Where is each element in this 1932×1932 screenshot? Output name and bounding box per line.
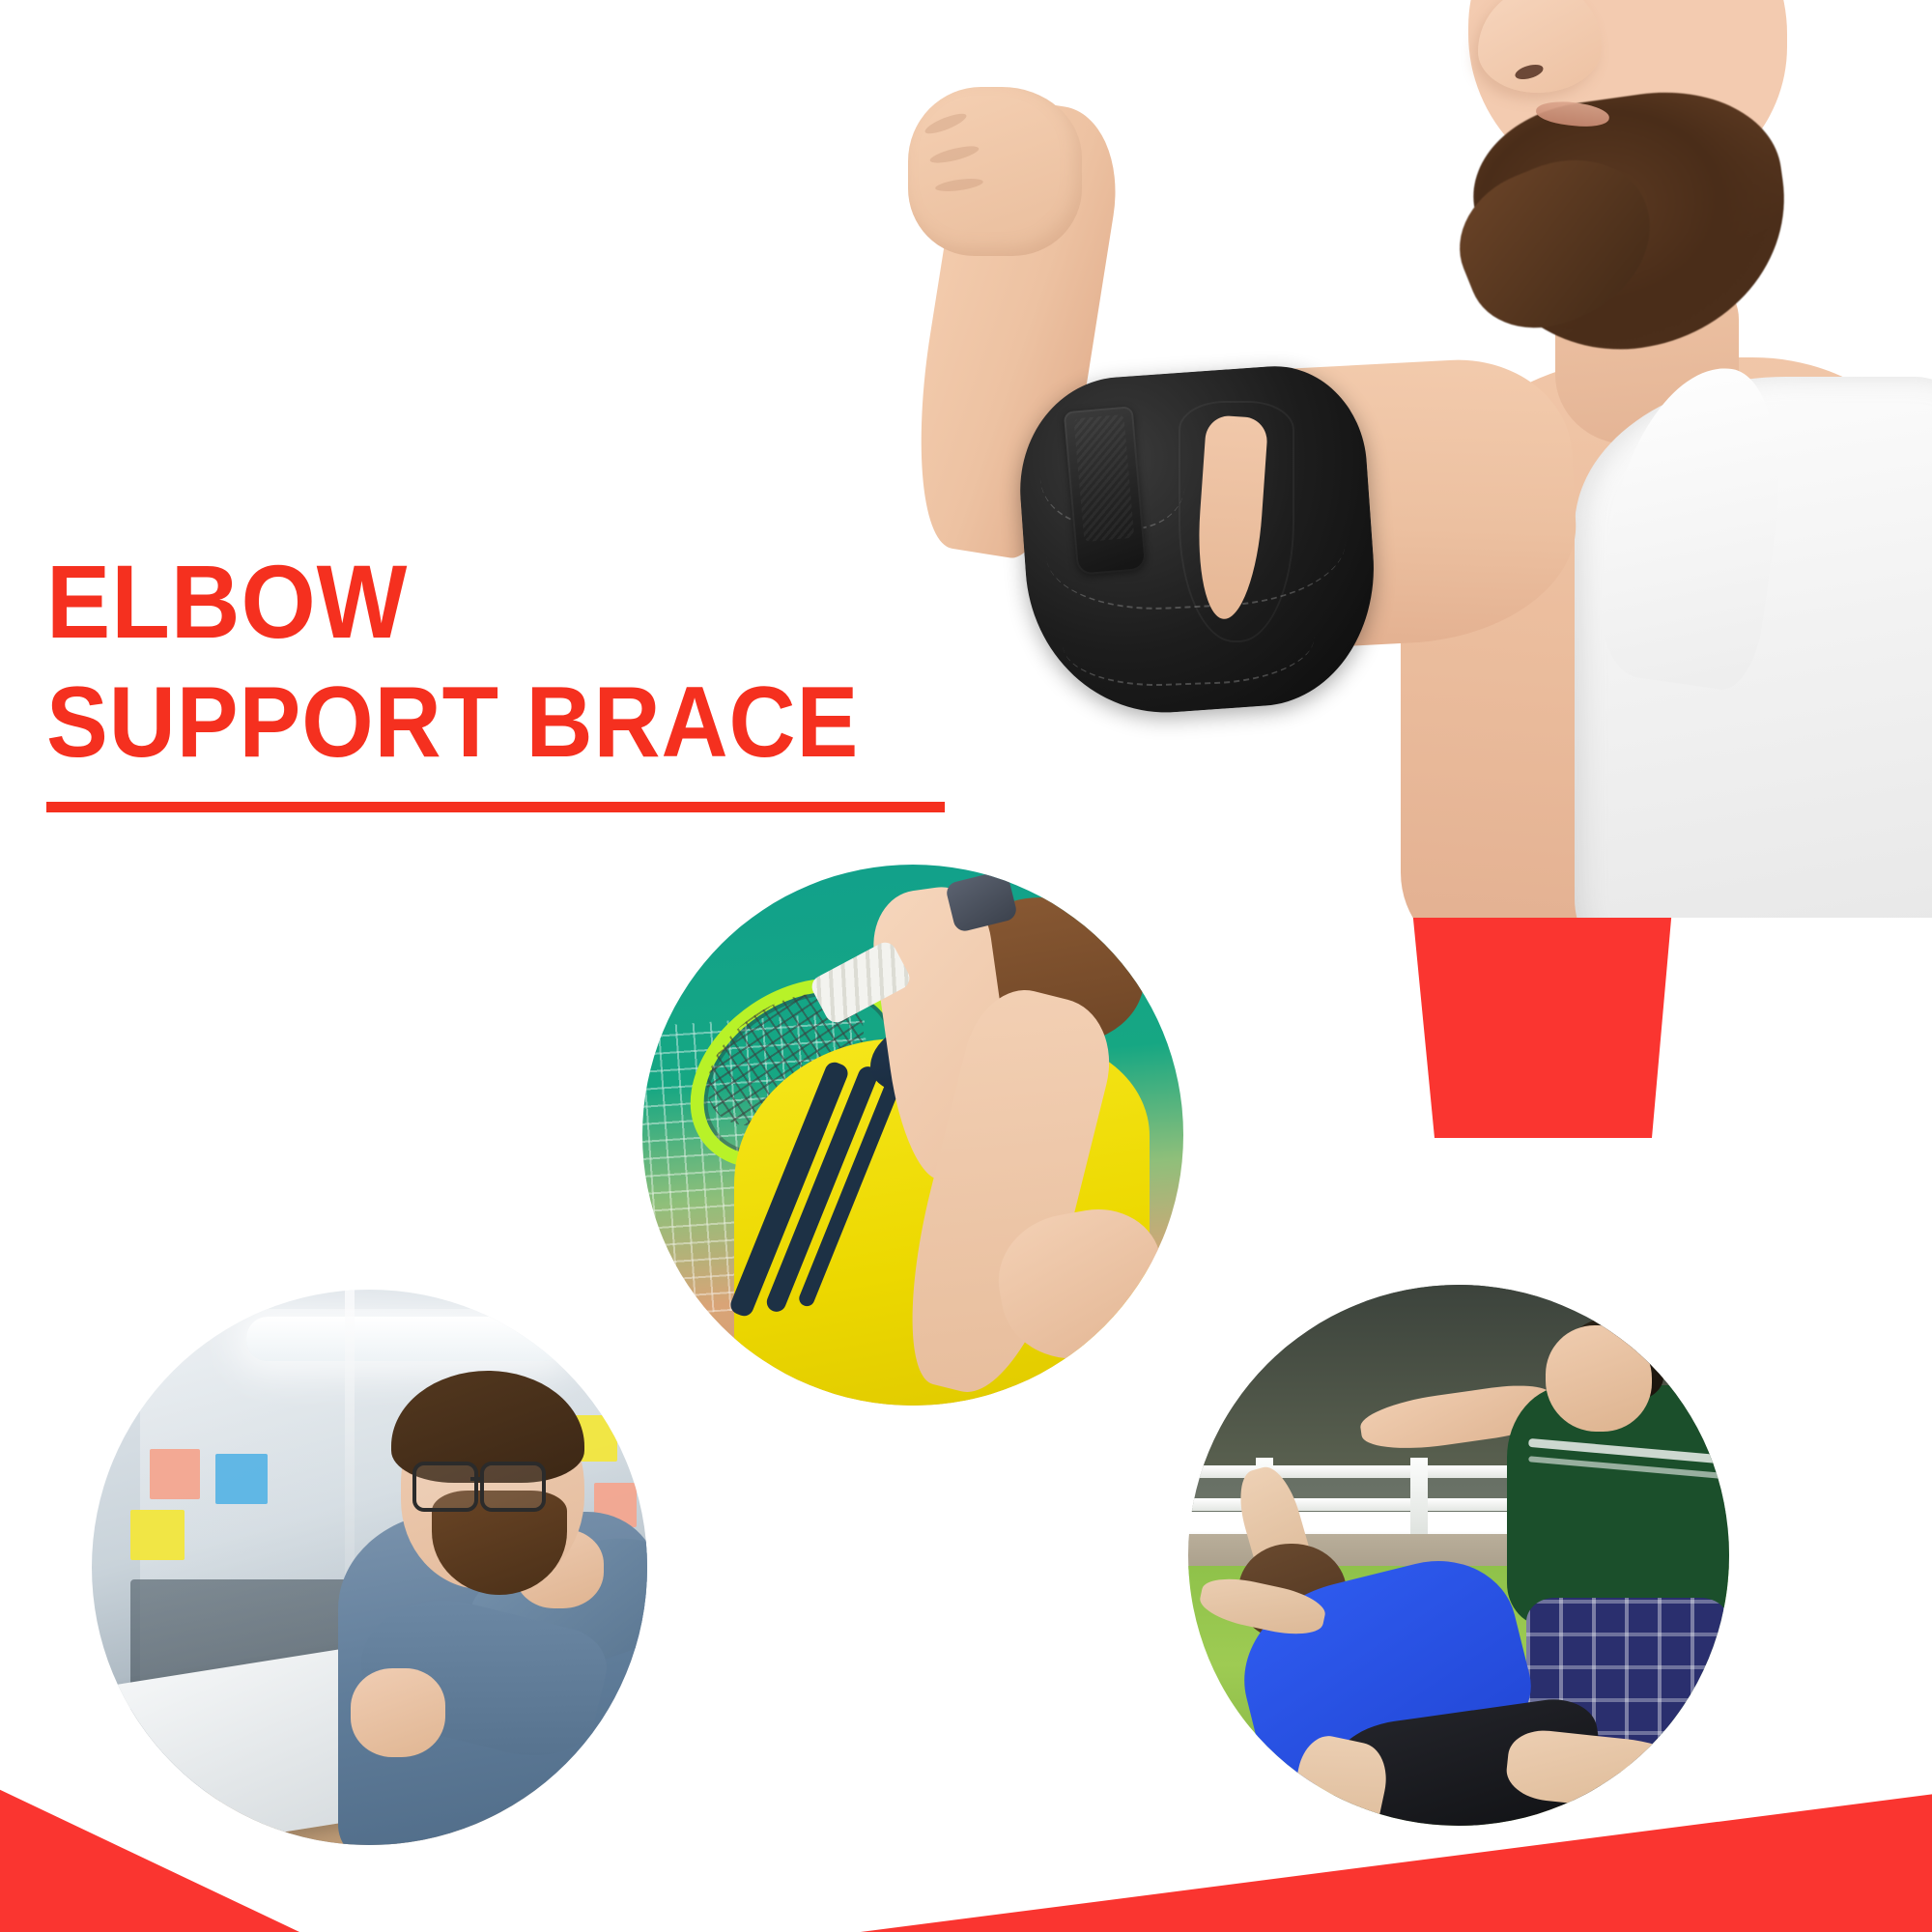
eyeglass-lens-right (480, 1462, 546, 1512)
ceiling-light (246, 1317, 565, 1361)
fence-post (1410, 1458, 1428, 1533)
model-nose (1478, 0, 1602, 93)
model-fist (908, 87, 1082, 256)
headline-block: ELBOW SUPPORT BRACE (46, 551, 945, 812)
headline-line-1: ELBOW (46, 551, 873, 653)
sticky-note (130, 1510, 185, 1560)
eyeglasses-icon (412, 1462, 557, 1504)
headline-line-2: SUPPORT BRACE (46, 674, 873, 773)
headline-underline-rule (46, 802, 945, 812)
use-case-circle-tennis (642, 865, 1183, 1406)
sticky-note (215, 1454, 268, 1504)
hero-product-photo (802, 0, 1932, 918)
sticky-note (150, 1449, 200, 1499)
eyeglass-lens-left (412, 1462, 478, 1512)
green-player-head (1546, 1325, 1652, 1432)
product-banner: ELBOW SUPPORT BRACE (0, 0, 1932, 1932)
office-worker-hand-on-elbow (351, 1668, 445, 1757)
brace-split-seam (1179, 401, 1294, 642)
use-case-circle-office (92, 1290, 647, 1845)
use-case-circle-field-sports (1188, 1285, 1729, 1826)
brace-velcro-strap (1064, 406, 1148, 576)
elbow-support-brace (1024, 372, 1372, 710)
